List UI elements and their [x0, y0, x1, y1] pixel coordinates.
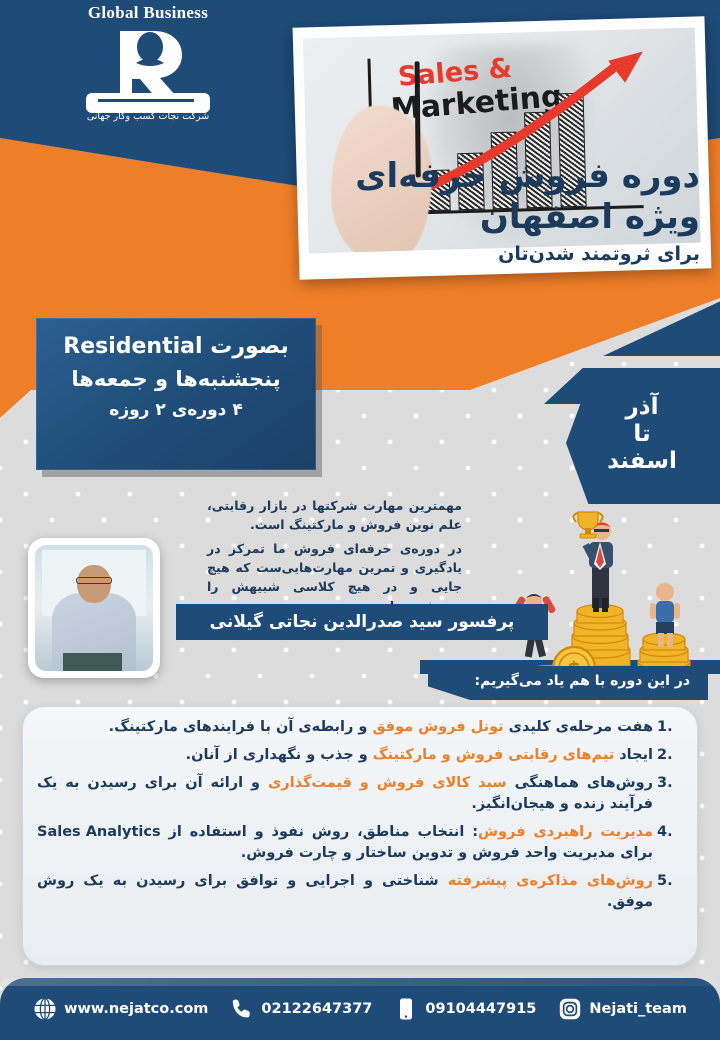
format-line-1-value: Residential	[63, 334, 202, 359]
contact-text: 02122647377	[261, 1001, 372, 1017]
curriculum-highlight: تیم‌های رقابتی فروش و مارکتینگ	[373, 747, 614, 763]
curriculum-highlight: سبد کالای فروش و قیمت‌گذاری	[268, 775, 507, 791]
curriculum-item-number: 3.	[657, 773, 679, 794]
curriculum-item: 3.روش‌های هماهنگی سبد کالای فروش و قیمت‌…	[37, 773, 679, 815]
curriculum-card: 1.هفت مرحله‌ی کلیدی تونل فروش موفق و راب…	[22, 706, 698, 966]
curriculum-text: : انتخاب مناطق، روش نفوذ و استفاده از	[161, 824, 478, 840]
intro-paragraph-2: در دوره‌ی حرفه‌ای فروش ما تمرکز در یادگی…	[207, 539, 462, 615]
businessman-with-trophy	[573, 512, 613, 612]
curriculum-highlight: مدیریت راهبردی فروش	[478, 824, 653, 840]
contact-text: www.nejatco.com	[64, 1001, 208, 1017]
book-silhouette-logo-icon	[58, 23, 238, 115]
speaker-portrait-image	[35, 545, 153, 671]
curriculum-highlight: روش‌های مذاکره‌ی پیشرفته	[448, 873, 653, 889]
intro-paragraph-1: مهمترین مهارت شرکتها در بازار رقابتی، عل…	[207, 496, 462, 534]
curriculum-text: Sales Analytics	[37, 822, 161, 843]
curriculum-text: ایجاد	[614, 747, 653, 763]
contact-text: 09104447915	[425, 1001, 536, 1017]
globe-icon	[33, 997, 57, 1021]
curriculum-item-number: 2.	[657, 745, 679, 766]
curriculum-text: برای مدیریت واحد فروش و تدوین ساختار و چ…	[241, 845, 653, 861]
brand-logo: Global Business شرکت نجات کسب وکار جهانی	[58, 4, 238, 136]
date-to: اسفند	[580, 448, 704, 475]
mobile-icon	[394, 997, 418, 1021]
brand-name: Global Business	[58, 4, 238, 21]
curriculum-item-number: 4.	[657, 822, 679, 843]
speaker-head	[77, 565, 110, 603]
curriculum-text: هفت مرحله‌ی کلیدی	[504, 719, 653, 735]
curriculum-item-number: 1.	[657, 717, 679, 738]
contact-item[interactable]: Nejati_team	[558, 997, 687, 1021]
poster-canvas: Global Business شرکت نجات کسب وکار جهانی…	[0, 0, 720, 1040]
format-line-2: پنجشنبه‌ها و جمعه‌ها	[48, 367, 304, 391]
curriculum-list: 1.هفت مرحله‌ی کلیدی تونل فروش موفق و راب…	[37, 717, 679, 913]
glasses-icon	[76, 577, 111, 585]
curriculum-item: 5.روش‌های مذاکره‌ی پیشرفته شناختی و اجرا…	[37, 871, 679, 913]
format-line-3: ۴ دوره‌ی ۲ روزه	[48, 400, 304, 420]
format-line-1: بصورت Residential	[48, 334, 304, 359]
contact-item[interactable]: 02122647377	[230, 997, 372, 1021]
speaker-photo	[28, 538, 160, 678]
instagram-icon	[558, 997, 582, 1021]
curriculum-text: و جذب و نگهداری از آنان.	[186, 747, 373, 763]
date-separator: تا	[580, 421, 704, 448]
speaker-name-banner: پرفسور سید صدرالدین نجاتی گیلانی	[176, 604, 548, 640]
headline-line-1: دوره فروش حرفه‌ای	[260, 156, 700, 197]
course-format-box: بصورت Residential پنجشنبه‌ها و جمعه‌ها ۴…	[36, 318, 316, 470]
curriculum-item-number: 5.	[657, 871, 679, 892]
date-from: آذر	[580, 394, 704, 421]
contact-item[interactable]: www.nejatco.com	[33, 997, 208, 1021]
headline-line-3: برای ثروتمند شدن‌تان	[260, 243, 700, 265]
curriculum-item: 2.ایجاد تیم‌های رقابتی فروش و مارکتینگ و…	[37, 745, 679, 766]
curriculum-text: روش‌های هماهنگی	[507, 775, 653, 791]
curriculum-item: 1.هفت مرحله‌ی کلیدی تونل فروش موفق و راب…	[37, 717, 679, 738]
curriculum-item: 4.مدیریت راهبردی فروش: انتخاب مناطق، روش…	[37, 822, 679, 864]
speaker-lower-body	[63, 653, 122, 671]
headline-group: دوره فروش حرفه‌ای ویژه اصفهان برای ثروتم…	[260, 156, 700, 265]
curriculum-ribbon: در این دوره با هم یاد می‌گیریم:	[428, 666, 708, 700]
curriculum-text: و رابطه‌ی آن با فرایندهای مارکتینگ.	[109, 719, 373, 735]
format-line-1-prefix: بصورت	[210, 334, 289, 359]
phone-icon	[230, 997, 254, 1021]
date-range-badge: آذر تا اسفند	[566, 382, 720, 504]
contact-item[interactable]: 09104447915	[394, 997, 536, 1021]
contact-text: Nejati_team	[589, 1001, 687, 1017]
intro-paragraphs: مهمترین مهارت شرکتها در بازار رقابتی، عل…	[207, 496, 462, 615]
contact-footer: www.nejatco.com0212264737709104447915Nej…	[0, 978, 720, 1040]
curriculum-highlight: تونل فروش موفق	[372, 719, 503, 735]
headline-line-2: ویژه اصفهان	[260, 197, 700, 238]
